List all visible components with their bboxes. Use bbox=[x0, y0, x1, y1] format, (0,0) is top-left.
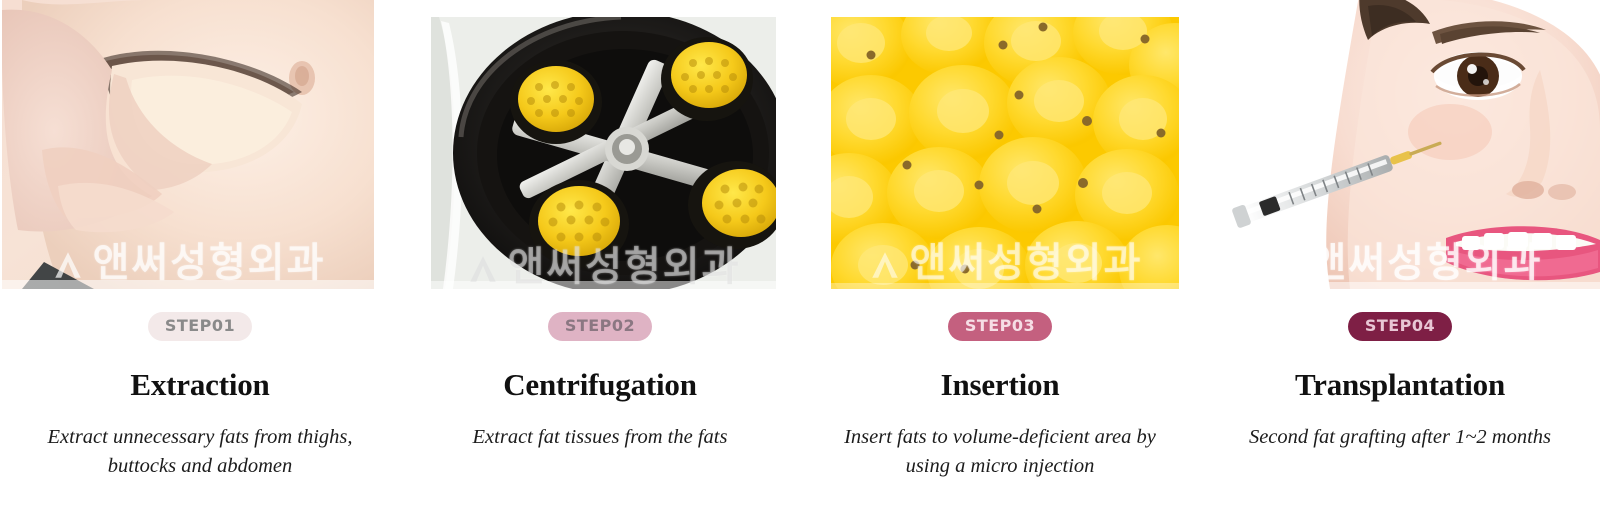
step-badge-2[interactable]: STEP02 bbox=[548, 312, 652, 341]
step-desc-1: Extract unnecessary fats from thighs, bu… bbox=[35, 423, 365, 481]
step-image-4: 앤써성형외과 bbox=[1210, 0, 1600, 289]
badge-wrap-4: STEP04 bbox=[1200, 312, 1600, 341]
step-card-4[interactable]: 앤써성형외과 STEP04 Transplantation Second fat… bbox=[1200, 0, 1600, 508]
step-title-4: Transplantation bbox=[1295, 368, 1505, 402]
step-image-3: 앤써성형외과 bbox=[831, 17, 1179, 289]
step-image-2: 앤써성형외과 bbox=[431, 17, 776, 289]
centrifuge-fat-tubes-photo bbox=[431, 17, 776, 289]
step-badge-3[interactable]: STEP03 bbox=[948, 312, 1052, 341]
procedure-steps-row: 앤써성형외과 STEP01 Extraction Extract unneces… bbox=[0, 0, 1600, 508]
step-badge-4[interactable]: STEP04 bbox=[1348, 312, 1452, 341]
step-card-2[interactable]: 앤써성형외과 STEP02 Centrifugation Extract fat… bbox=[400, 0, 800, 508]
abdomen-fat-pinch-photo bbox=[2, 0, 374, 289]
step-desc-2: Extract fat tissues from the fats bbox=[435, 423, 765, 452]
badge-wrap-3: STEP03 bbox=[800, 312, 1200, 341]
badge-wrap-1: STEP01 bbox=[0, 312, 400, 341]
step-title-2: Centrifugation bbox=[503, 368, 697, 402]
badge-wrap-2: STEP02 bbox=[400, 312, 800, 341]
step-desc-4: Second fat grafting after 1~2 months bbox=[1240, 423, 1560, 452]
step-card-3[interactable]: 앤써성형외과 STEP03 Insertion Insert fats to v… bbox=[800, 0, 1200, 508]
step-desc-3: Insert fats to volume-deficient area by … bbox=[830, 423, 1170, 481]
step-title-3: Insertion bbox=[941, 368, 1060, 402]
step-card-1[interactable]: 앤써성형외과 STEP01 Extraction Extract unneces… bbox=[0, 0, 400, 508]
step-image-1: 앤써성형외과 bbox=[2, 0, 374, 289]
facial-injection-photo bbox=[1210, 0, 1600, 289]
step-badge-1[interactable]: STEP01 bbox=[148, 312, 252, 341]
fat-cells-illustration bbox=[831, 17, 1179, 289]
step-title-1: Extraction bbox=[130, 368, 269, 402]
